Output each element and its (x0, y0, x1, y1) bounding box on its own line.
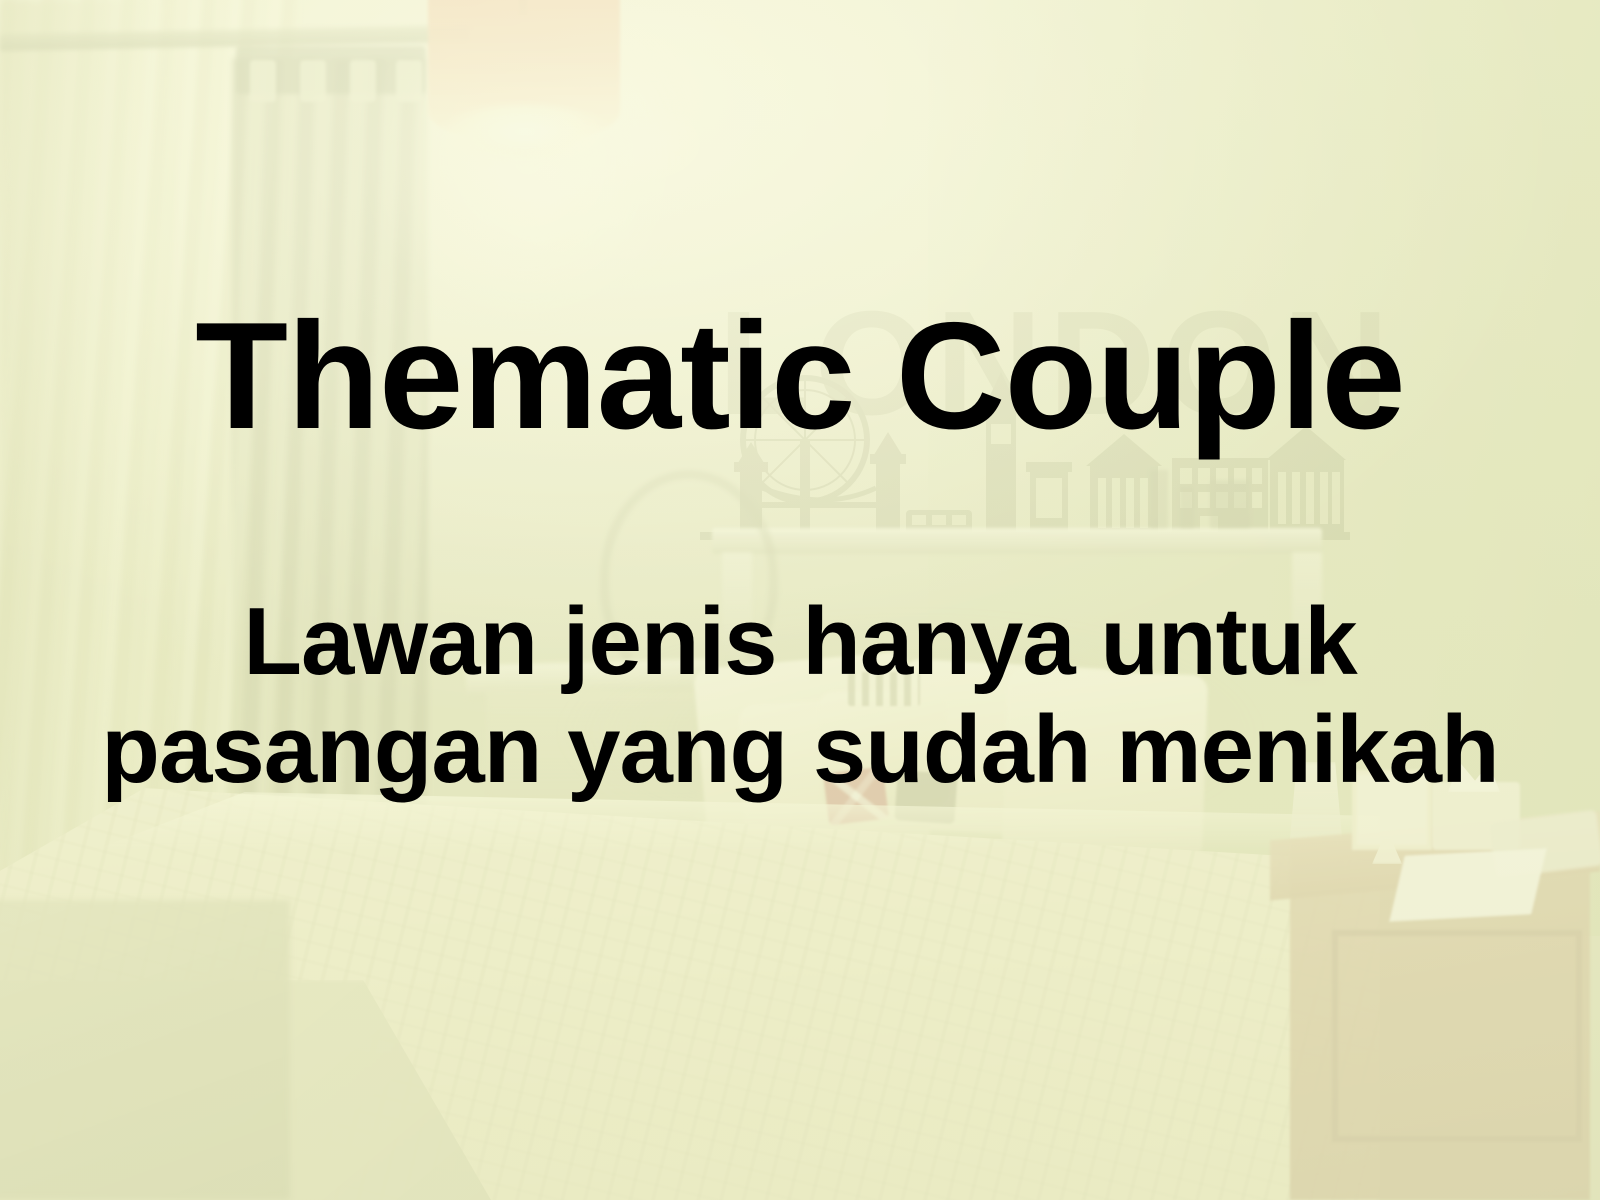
slide-text-layer: Thematic Couple Lawan jenis hanya untuk … (0, 0, 1600, 1200)
slide-title: Thematic Couple (0, 300, 1600, 452)
subtitle-line-1: Lawan jenis hanya untuk (0, 588, 1600, 696)
subtitle-line-2: pasangan yang sudah menikah (0, 696, 1600, 804)
slide-subtitle: Lawan jenis hanya untuk pasangan yang su… (0, 588, 1600, 803)
presentation-slide: LONDON (0, 0, 1600, 1200)
